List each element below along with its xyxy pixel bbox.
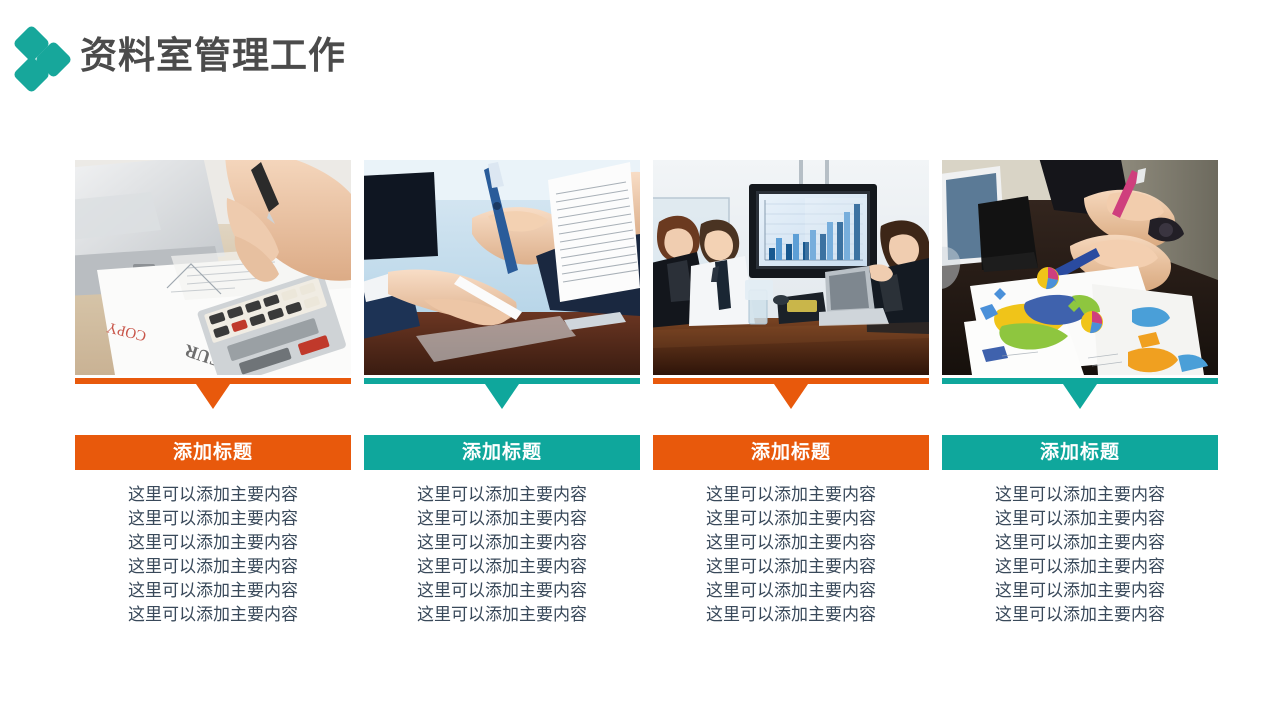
body-line: 这里可以添加主要内容 xyxy=(364,483,640,507)
slide-header: 资料室管理工作 xyxy=(0,0,1281,120)
body-line: 这里可以添加主要内容 xyxy=(942,507,1218,531)
column-body-2: 这里可以添加主要内容 这里可以添加主要内容 这里可以添加主要内容 这里可以添加主… xyxy=(364,483,640,627)
content-column-2: 添加标题 这里可以添加主要内容 这里可以添加主要内容 这里可以添加主要内容 这里… xyxy=(364,160,640,660)
photo-hands-documents xyxy=(364,160,640,375)
body-line: 这里可以添加主要内容 xyxy=(364,555,640,579)
photo-charts-on-paper xyxy=(942,160,1218,375)
content-column-4: 添加标题 这里可以添加主要内容 这里可以添加主要内容 这里可以添加主要内容 这里… xyxy=(942,160,1218,660)
body-line: 这里可以添加主要内容 xyxy=(653,603,929,627)
body-line: 这里可以添加主要内容 xyxy=(75,579,351,603)
diamond-cluster-icon xyxy=(16,28,82,90)
body-line: 这里可以添加主要内容 xyxy=(653,507,929,531)
body-line: 这里可以添加主要内容 xyxy=(942,579,1218,603)
column-body-3: 这里可以添加主要内容 这里可以添加主要内容 这里可以添加主要内容 这里可以添加主… xyxy=(653,483,929,627)
body-line: 这里可以添加主要内容 xyxy=(75,483,351,507)
column-heading-1[interactable]: 添加标题 xyxy=(75,435,351,470)
accent-arrow-2 xyxy=(485,384,519,409)
content-column-3: 添加标题 这里可以添加主要内容 这里可以添加主要内容 这里可以添加主要内容 这里… xyxy=(653,160,929,660)
column-body-4: 这里可以添加主要内容 这里可以添加主要内容 这里可以添加主要内容 这里可以添加主… xyxy=(942,483,1218,627)
body-line: 这里可以添加主要内容 xyxy=(653,483,929,507)
page-title: 资料室管理工作 xyxy=(80,31,346,81)
body-line: 这里可以添加主要内容 xyxy=(364,603,640,627)
column-heading-2[interactable]: 添加标题 xyxy=(364,435,640,470)
photo-calculator-invoice: COPY EUR xyxy=(75,160,351,375)
body-line: 这里可以添加主要内容 xyxy=(75,555,351,579)
column-body-1: 这里可以添加主要内容 这里可以添加主要内容 这里可以添加主要内容 这里可以添加主… xyxy=(75,483,351,627)
content-columns: COPY EUR xyxy=(75,160,1217,660)
photo-meeting-room-chart xyxy=(653,160,929,375)
body-line: 这里可以添加主要内容 xyxy=(364,507,640,531)
body-line: 这里可以添加主要内容 xyxy=(364,579,640,603)
accent-arrow-1 xyxy=(196,384,230,409)
body-line: 这里可以添加主要内容 xyxy=(942,603,1218,627)
body-line: 这里可以添加主要内容 xyxy=(653,531,929,555)
body-line: 这里可以添加主要内容 xyxy=(653,555,929,579)
column-heading-3[interactable]: 添加标题 xyxy=(653,435,929,470)
accent-arrow-4 xyxy=(1063,384,1097,409)
body-line: 这里可以添加主要内容 xyxy=(75,507,351,531)
column-heading-4[interactable]: 添加标题 xyxy=(942,435,1218,470)
body-line: 这里可以添加主要内容 xyxy=(942,555,1218,579)
body-line: 这里可以添加主要内容 xyxy=(75,603,351,627)
content-column-1: COPY EUR xyxy=(75,160,351,660)
body-line: 这里可以添加主要内容 xyxy=(75,531,351,555)
body-line: 这里可以添加主要内容 xyxy=(364,531,640,555)
body-line: 这里可以添加主要内容 xyxy=(653,579,929,603)
body-line: 这里可以添加主要内容 xyxy=(942,531,1218,555)
body-line: 这里可以添加主要内容 xyxy=(942,483,1218,507)
accent-arrow-3 xyxy=(774,384,808,409)
